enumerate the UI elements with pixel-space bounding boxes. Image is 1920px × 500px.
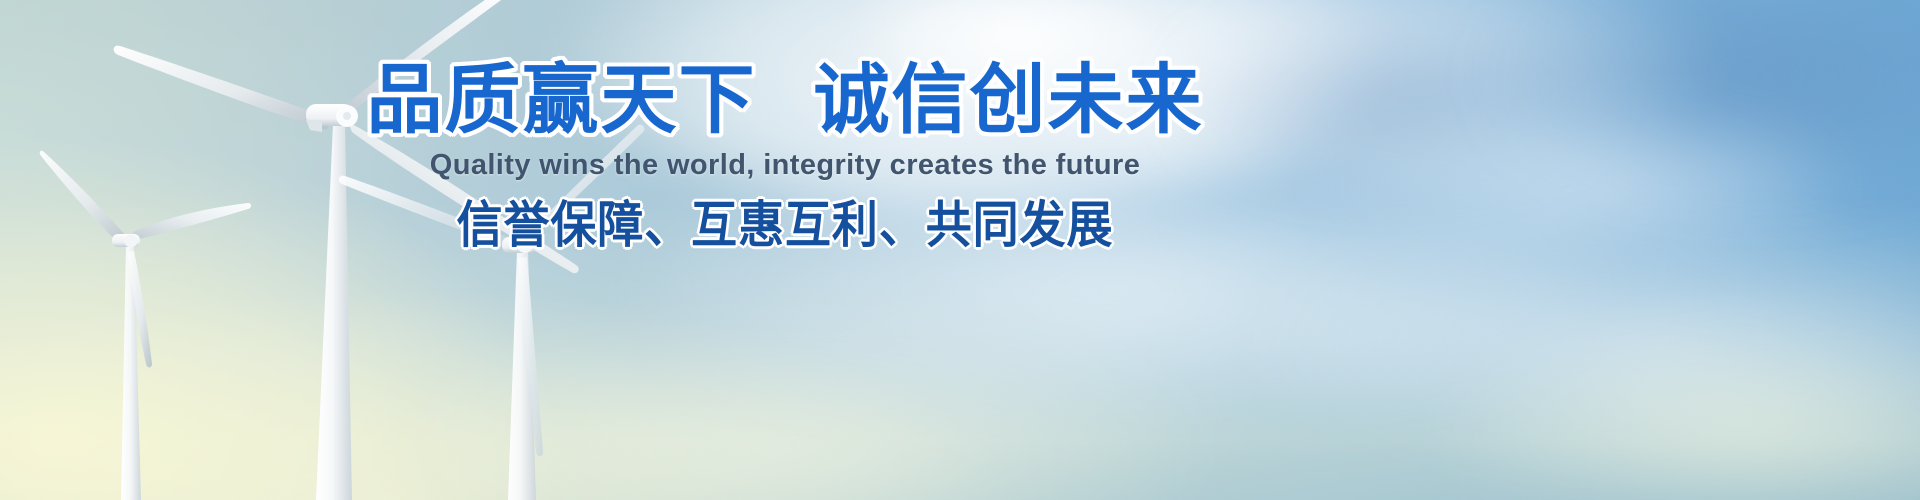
wind-turbine-right <box>339 125 645 500</box>
wind-turbine-group <box>0 0 1920 500</box>
promotional-banner: 品质赢天下 诚信创未来 Quality wins the world, inte… <box>0 0 1920 500</box>
wind-turbines-illustration <box>0 0 1920 500</box>
wind-turbine-left <box>40 151 251 500</box>
